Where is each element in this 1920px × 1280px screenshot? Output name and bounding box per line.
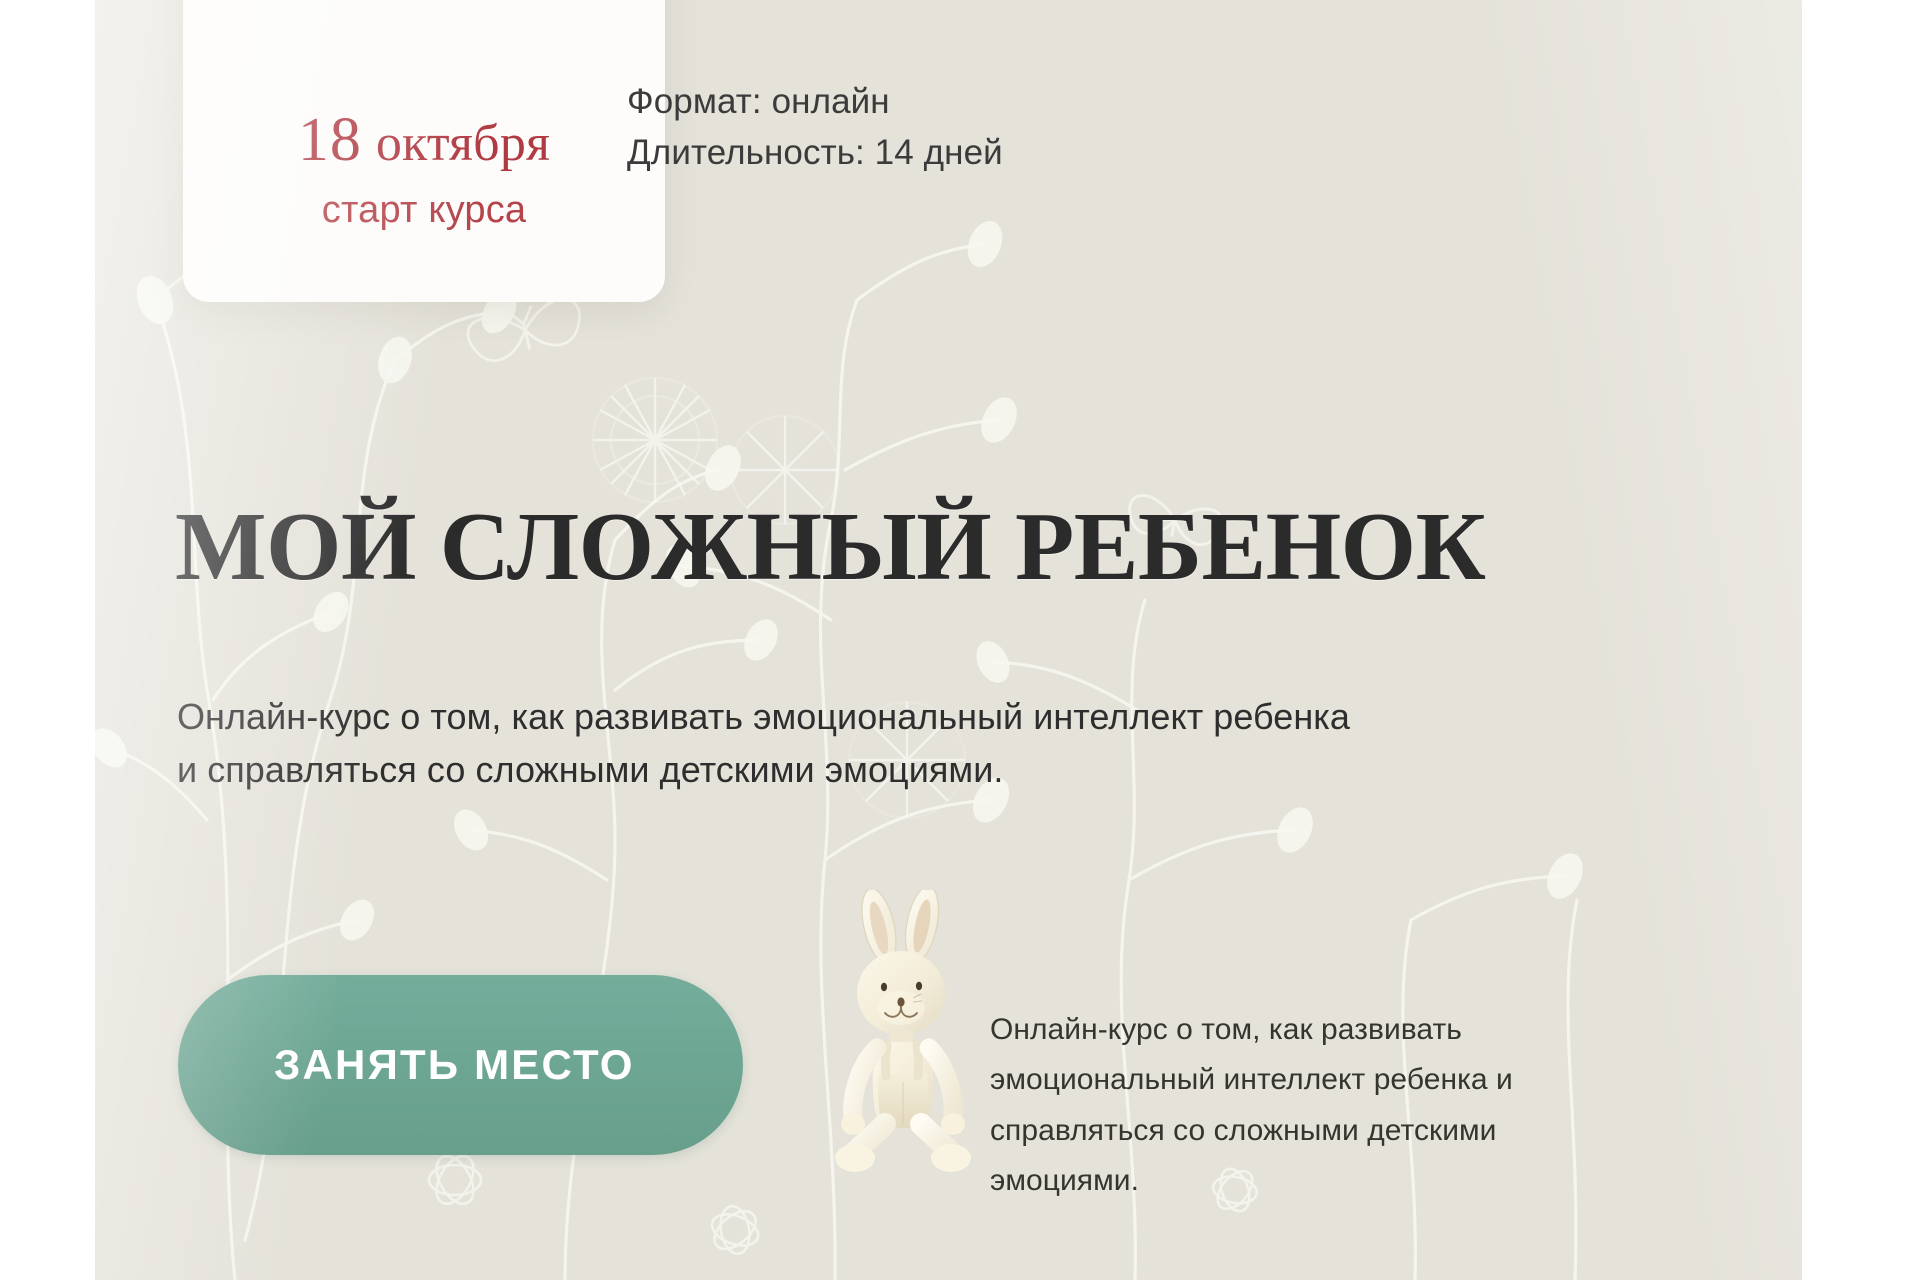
enroll-button-label: ЗАНЯТЬ МЕСТО: [274, 1041, 635, 1089]
course-format: Формат: онлайн: [627, 76, 1003, 127]
course-duration: Длительность: 14 дней: [627, 127, 1003, 178]
hero-lead-paragraph: Онлайн-курс о том, как развивать эмоцион…: [177, 690, 1367, 797]
course-meta: Формат: онлайн Длительность: 14 дней: [627, 76, 1003, 178]
hero-secondary-paragraph: Онлайн-курс о том, как развивать эмоцион…: [990, 1005, 1580, 1207]
right-gutter: [1802, 0, 1920, 1280]
landing-page-hero: 18октября старт курса Формат: онлайн Дли…: [0, 0, 1920, 1280]
course-start-date-card: 18октября старт курса: [183, 0, 665, 302]
enroll-button[interactable]: ЗАНЯТЬ МЕСТО: [178, 975, 743, 1155]
course-start-day: 18: [298, 106, 362, 174]
course-start-month: октября: [376, 115, 550, 172]
course-start-caption: старт курса: [322, 189, 526, 232]
plush-bunny-illustration: [809, 890, 1009, 1180]
course-start-date: 18октября: [298, 109, 550, 171]
page-title: МОЙ СЛОЖНЫЙ РЕБЕНОК: [175, 498, 1485, 595]
hero-canvas: 18октября старт курса Формат: онлайн Дли…: [95, 0, 1802, 1280]
